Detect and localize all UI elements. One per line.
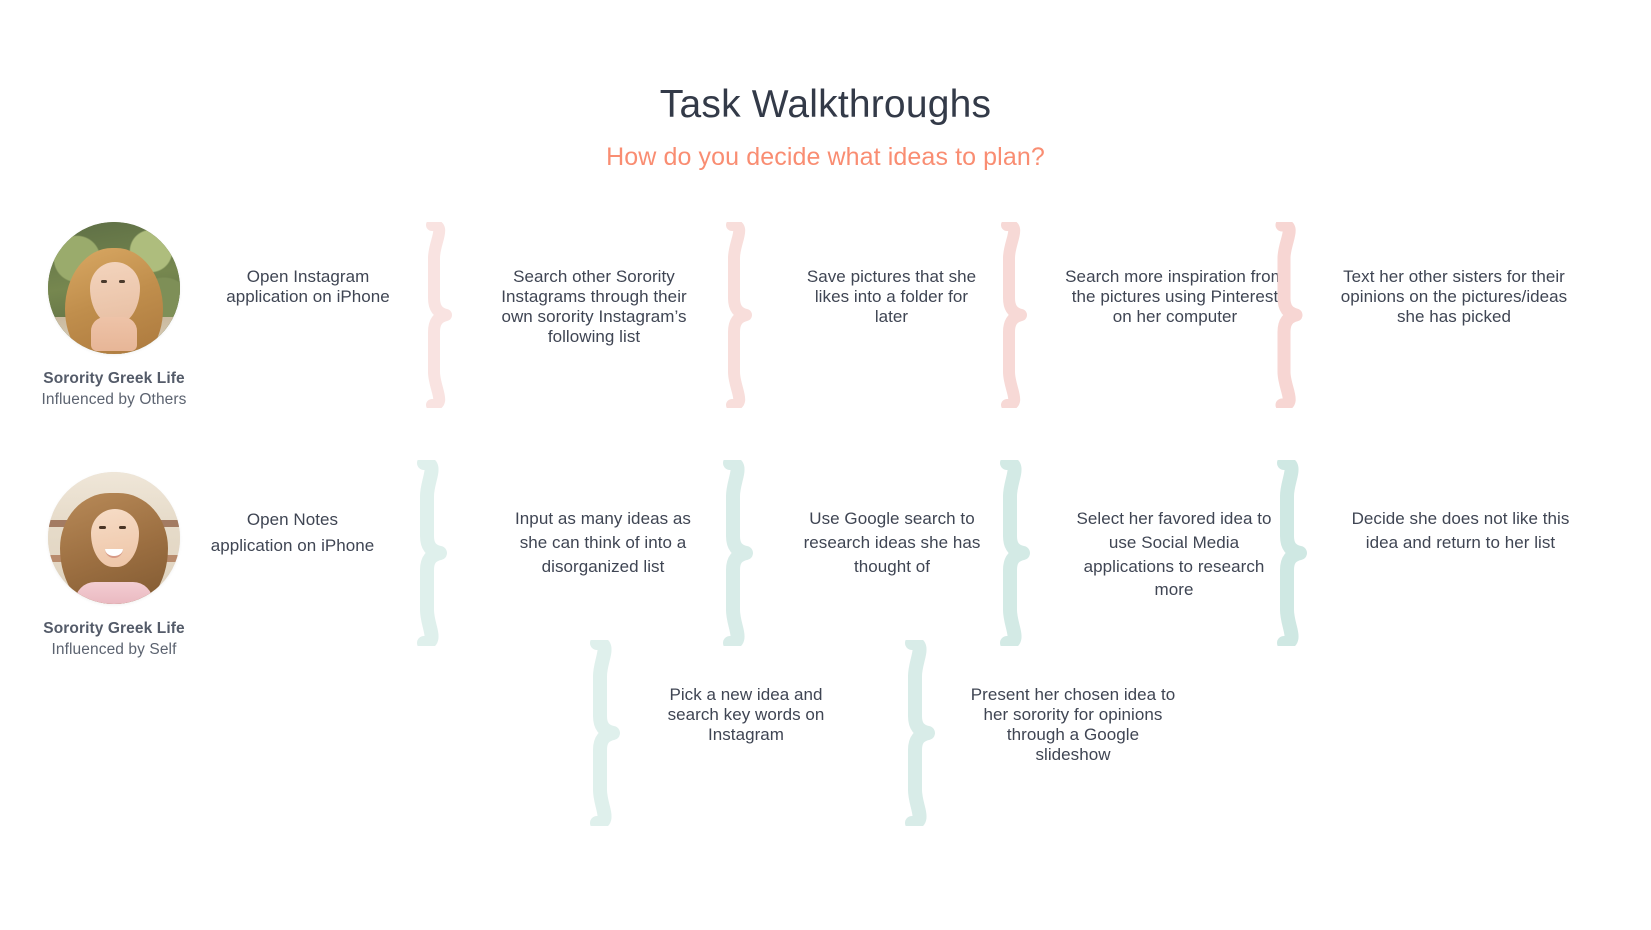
curly-brace-icon [420, 222, 470, 408]
page-header: Task Walkthroughs How do you decide what… [0, 84, 1651, 172]
page-subtitle: How do you decide what ideas to plan? [0, 143, 1651, 172]
avatar-shirt [75, 582, 153, 604]
curly-brace-icon [995, 222, 1045, 408]
persona-card-influenced-by-self: Sorority Greek Life Influenced by Self [0, 472, 228, 659]
curly-brace-icon [412, 460, 464, 646]
flow-step: Save pictures that she likes into a fold… [800, 267, 983, 327]
page-title: Task Walkthroughs [0, 84, 1651, 127]
persona-card-influenced-by-others: Sorority Greek Life Influenced by Others [0, 222, 228, 409]
flow-step: Pick a new idea and search key words on … [665, 685, 827, 745]
flow-row-influenced-by-self: Sorority Greek Life Influenced by Self O… [0, 460, 1651, 660]
curly-brace-icon [720, 222, 770, 408]
curly-brace-icon [995, 460, 1047, 646]
flow-step: Present her chosen idea to her sorority … [970, 685, 1176, 765]
persona-influence: Influenced by Others [0, 391, 228, 409]
curly-brace-icon [718, 460, 770, 646]
avatar [48, 222, 180, 354]
flow-step: Decide she does not like this idea and r… [1348, 507, 1573, 555]
flow-step: Open Instagram application on iPhone [214, 267, 402, 307]
persona-name: Sorority Greek Life [0, 620, 228, 638]
flow-step: Text her other sisters for their opinion… [1340, 267, 1568, 327]
curly-brace-icon [900, 640, 952, 826]
flow-step: Search more inspiration from the picture… [1064, 267, 1286, 327]
avatar-neck [91, 317, 137, 351]
flow-step: Use Google search to research ideas she … [802, 507, 982, 578]
avatar-eye-left [99, 526, 106, 529]
avatar-eye-right [119, 280, 125, 283]
flow-step: Select her favored idea to use Social Me… [1068, 507, 1280, 602]
avatar-eye-left [101, 280, 107, 283]
flow-step: Open Notes application on iPhone [205, 507, 380, 560]
curly-brace-icon [585, 640, 637, 826]
persona-name: Sorority Greek Life [0, 370, 228, 388]
avatar-face [90, 262, 140, 324]
flow-step: Input as many ideas as she can think of … [500, 507, 706, 578]
flow-row-sub-branch: Pick a new idea and search key words on … [0, 640, 1651, 840]
avatar [48, 472, 180, 604]
flow-step: Search other Sorority Instagrams through… [498, 267, 690, 347]
flow-row-influenced-by-others: Sorority Greek Life Influenced by Others… [0, 222, 1651, 422]
avatar-eye-right [119, 526, 126, 529]
